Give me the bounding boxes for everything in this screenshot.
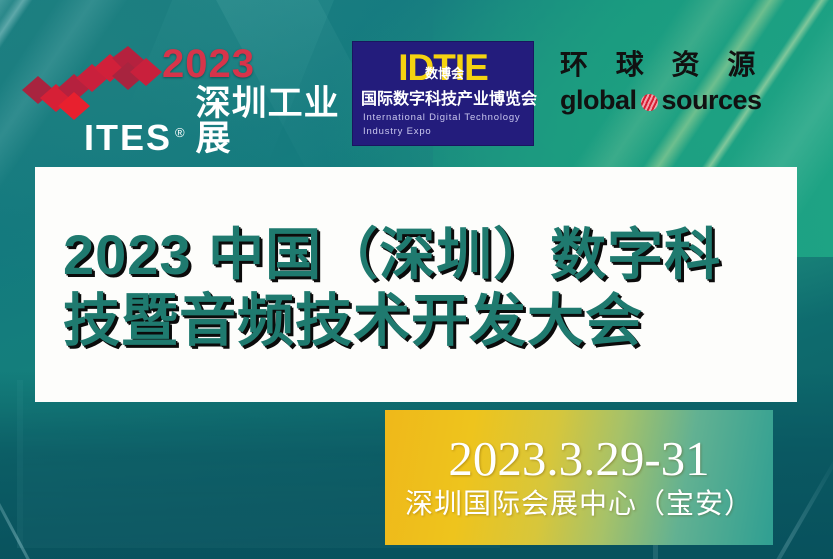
idtie-logo: IDTIE 数博会 国际数字科技产业博览会 International Digi…	[352, 41, 534, 146]
ites-brand-text: ITES	[84, 120, 172, 156]
global-sources-word-sources: sources	[662, 84, 762, 116]
striped-red-circle-icon	[641, 94, 658, 111]
global-sources-chinese-name: 环 球 资 源	[560, 48, 790, 82]
event-poster: 2023 ITES ® 深圳工业展 IDTIE 数博会 国际数字科技产业博览会 …	[0, 0, 833, 559]
ites-wordmark: ITES ® 深圳工业展	[84, 86, 352, 156]
ites-chinese-name: 深圳工业展	[196, 86, 352, 156]
global-sources-word-global: global	[560, 84, 637, 116]
event-title-line-2: 技暨音频技术开发大会	[63, 289, 797, 353]
event-title-line-1: 2023 中国（深圳）数字科	[63, 223, 797, 287]
idtie-english-line-2: Industry Expo	[361, 126, 525, 138]
idtie-english-line-1: International Digital Technology	[361, 112, 525, 124]
idtie-chinese-name: 国际数字科技产业博览会	[361, 90, 525, 110]
registered-trademark-icon: ®	[175, 125, 185, 140]
ites-logo: 2023 ITES ® 深圳工业展	[22, 42, 352, 140]
event-venue: 深圳国际会展中心（宝安）	[405, 487, 753, 521]
date-venue-band: 2023.3.29-31 深圳国际会展中心（宝安）	[385, 410, 773, 545]
global-sources-logo: 环 球 资 源 global sources	[560, 48, 790, 130]
logo-row: 2023 ITES ® 深圳工业展 IDTIE 数博会 国际数字科技产业博览会 …	[0, 0, 833, 160]
idtie-badge-chinese: 数博会	[425, 67, 464, 81]
ites-year: 2023	[162, 42, 255, 87]
global-sources-wordmark: global sources	[560, 84, 790, 116]
idtie-lockup: IDTIE 数博会	[361, 48, 525, 88]
title-panel: 2023 中国（深圳）数字科 技暨音频技术开发大会	[35, 167, 797, 402]
event-date: 2023.3.29-31	[448, 431, 709, 487]
